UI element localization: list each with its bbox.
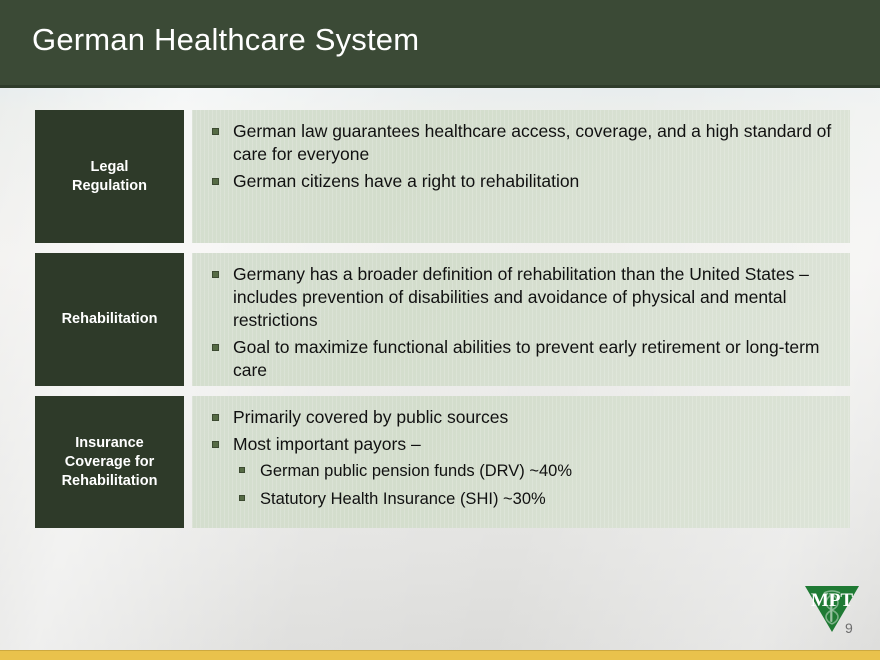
content-row-insurance-coverage: Insurance Coverage for Rehabilitation Pr… xyxy=(35,396,850,528)
row-label-line: Coverage for xyxy=(65,454,154,470)
list-item: German public pension funds (DRV) ~40% xyxy=(233,460,836,482)
list-item: Germany has a broader definition of reha… xyxy=(206,263,836,332)
list-item: Most important payors – German public pe… xyxy=(206,433,836,510)
logo-text: MPT xyxy=(811,590,854,611)
slide-header: German Healthcare System xyxy=(0,0,880,88)
row-body-rehabilitation: Germany has a broader definition of reha… xyxy=(192,253,850,386)
slide-canvas: German Healthcare System Legal Regulatio… xyxy=(0,0,880,660)
header-underline xyxy=(0,85,880,88)
bullet-text: Goal to maximize functional abilities to… xyxy=(233,337,820,380)
row-label-line: Regulation xyxy=(72,178,147,194)
row-label-rehabilitation: Rehabilitation xyxy=(35,253,184,386)
row-label-line: Rehabilitation xyxy=(62,473,158,489)
list-item: German citizens have a right to rehabili… xyxy=(206,170,836,193)
bullet-text: Primarily covered by public sources xyxy=(233,407,508,427)
square-bullet-icon xyxy=(212,271,219,278)
square-bullet-icon xyxy=(212,414,219,421)
row-label-line: Legal xyxy=(91,159,129,175)
sub-bullet-text: German public pension funds (DRV) ~40% xyxy=(260,462,572,480)
list-item: German law guarantees healthcare access,… xyxy=(206,120,836,166)
slide-number: 9 xyxy=(845,620,853,636)
sub-bullet-list: German public pension funds (DRV) ~40% S… xyxy=(233,460,836,510)
row-label-line: Rehabilitation xyxy=(62,310,158,329)
page-title: German Healthcare System xyxy=(32,22,419,58)
row-label-legal-regulation: Legal Regulation xyxy=(35,110,184,243)
bullet-text: German citizens have a right to rehabili… xyxy=(233,171,579,191)
square-bullet-icon xyxy=(239,495,245,501)
bullet-list: German law guarantees healthcare access,… xyxy=(206,120,836,193)
square-bullet-icon xyxy=(212,344,219,351)
bullet-text: Germany has a broader definition of reha… xyxy=(233,264,809,330)
square-bullet-icon xyxy=(212,178,219,185)
sub-bullet-text: Statutory Health Insurance (SHI) ~30% xyxy=(260,490,546,508)
row-label-line: Insurance xyxy=(75,435,144,451)
row-body-legal-regulation: German law guarantees healthcare access,… xyxy=(192,110,850,243)
square-bullet-icon xyxy=(212,441,219,448)
list-item: Primarily covered by public sources xyxy=(206,406,836,429)
square-bullet-icon xyxy=(212,128,219,135)
bullet-text: German law guarantees healthcare access,… xyxy=(233,121,831,164)
list-item: Goal to maximize functional abilities to… xyxy=(206,336,836,382)
row-body-insurance-coverage: Primarily covered by public sources Most… xyxy=(192,396,850,528)
bullet-text: Most important payors – xyxy=(233,434,421,454)
row-label-insurance-coverage: Insurance Coverage for Rehabilitation xyxy=(35,396,184,528)
bullet-list: Germany has a broader definition of reha… xyxy=(206,263,836,382)
content-row-legal-regulation: Legal Regulation German law guarantees h… xyxy=(35,110,850,243)
footer-accent-bar xyxy=(0,650,880,660)
list-item: Statutory Health Insurance (SHI) ~30% xyxy=(233,488,836,510)
bullet-list: Primarily covered by public sources Most… xyxy=(206,406,836,510)
mpt-logo: MPT xyxy=(802,580,862,638)
square-bullet-icon xyxy=(239,467,245,473)
content-row-rehabilitation: Rehabilitation Germany has a broader def… xyxy=(35,253,850,386)
